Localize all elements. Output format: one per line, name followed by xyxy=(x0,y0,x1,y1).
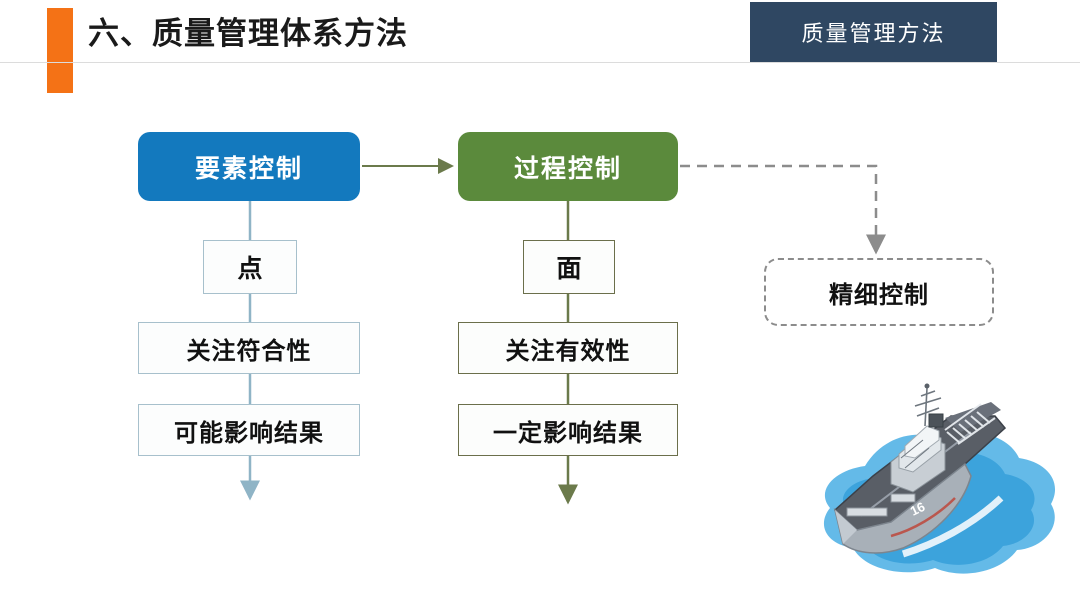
title-accent-bar xyxy=(47,8,73,93)
node-element-control[interactable]: 要素控制 xyxy=(138,132,360,201)
node-point[interactable]: 点 xyxy=(203,240,297,294)
header-divider xyxy=(0,62,1080,63)
node-plane[interactable]: 面 xyxy=(523,240,615,294)
node-fine-control[interactable]: 精细控制 xyxy=(764,258,994,326)
node-may-affect-result-label: 可能影响结果 xyxy=(174,413,324,448)
connector-process-to-fine xyxy=(680,166,876,252)
section-badge-label: 质量管理方法 xyxy=(801,16,945,48)
node-process-control[interactable]: 过程控制 xyxy=(458,132,678,201)
node-focus-effectiveness-label: 关注有效性 xyxy=(506,331,631,366)
slide-canvas: 六、质量管理体系方法 质量管理方法 xyxy=(0,0,1080,608)
section-badge: 质量管理方法 xyxy=(750,2,997,62)
island-superstructure xyxy=(891,384,945,493)
node-point-label: 点 xyxy=(237,249,262,285)
node-must-affect-result[interactable]: 一定影响结果 xyxy=(458,404,678,456)
node-focus-conformity[interactable]: 关注符合性 xyxy=(138,322,360,374)
node-must-affect-result-label: 一定影响结果 xyxy=(493,413,643,448)
node-focus-conformity-label: 关注符合性 xyxy=(187,331,312,366)
node-plane-label: 面 xyxy=(556,249,581,285)
node-element-control-label: 要素控制 xyxy=(195,149,303,185)
node-may-affect-result[interactable]: 可能影响结果 xyxy=(138,404,360,456)
aircraft-carrier-illustration: 16 xyxy=(795,358,1080,598)
page-title: 六、质量管理体系方法 xyxy=(88,12,408,56)
node-focus-effectiveness[interactable]: 关注有效性 xyxy=(458,322,678,374)
node-fine-control-label: 精细控制 xyxy=(829,275,929,310)
node-process-control-label: 过程控制 xyxy=(514,149,622,185)
